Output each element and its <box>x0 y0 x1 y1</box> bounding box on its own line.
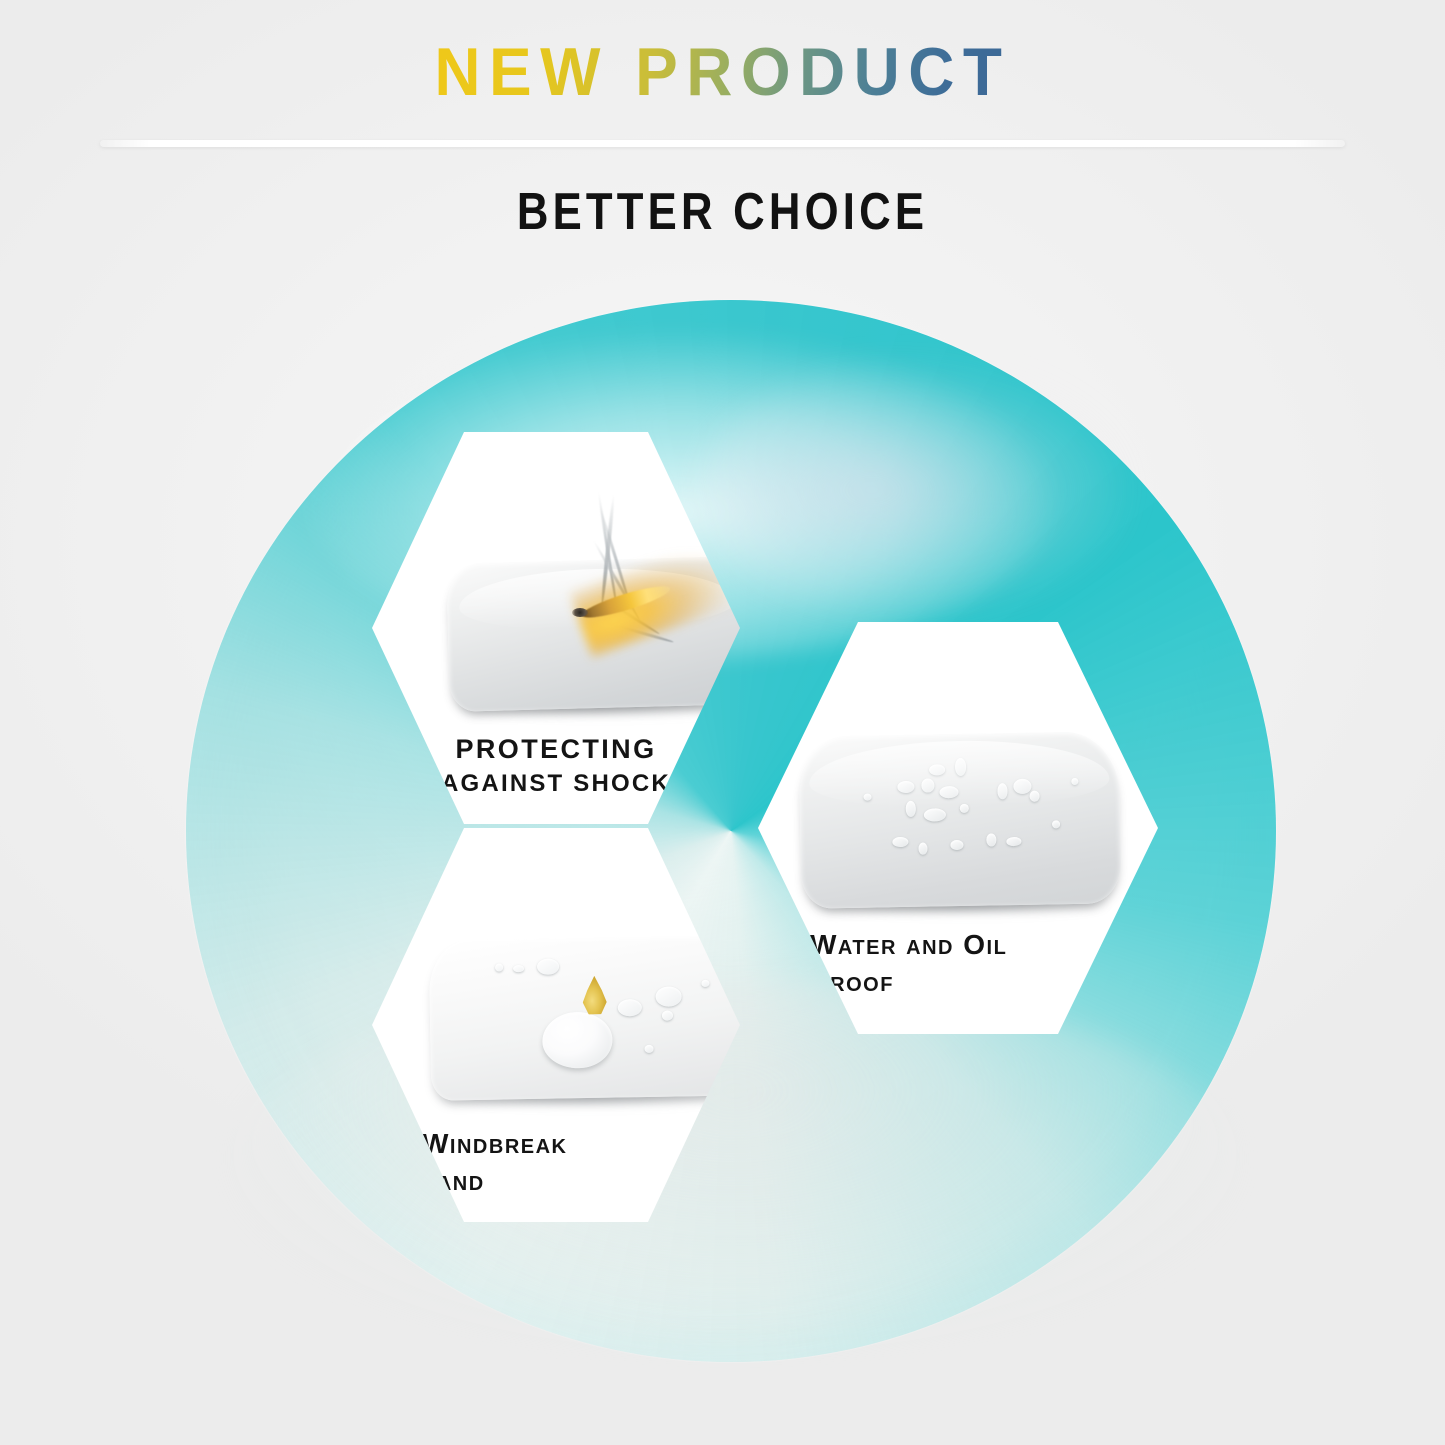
water-droplet-icon <box>1071 778 1078 785</box>
water-droplet-icon <box>655 986 681 1006</box>
water-droplet-icon <box>701 980 709 987</box>
page-title: NEW PRODUCT <box>434 38 1010 106</box>
water-droplet-icon <box>918 843 927 855</box>
water-droplet-icon <box>513 965 524 972</box>
water-droplet-icon <box>960 804 969 813</box>
lens-image-windbreak <box>429 935 746 1100</box>
water-droplet-icon <box>929 764 945 775</box>
water-droplet-icon <box>924 808 946 821</box>
feature-label-line1: Water and Oil <box>810 927 1110 964</box>
water-droplet-icon <box>1052 820 1060 828</box>
water-droplet-icon <box>939 786 958 798</box>
oil-droplet-icon <box>581 976 608 1016</box>
water-droplet-icon <box>1030 791 1040 802</box>
water-droplet-icon <box>955 758 966 776</box>
large-water-bead-icon <box>542 1012 613 1069</box>
water-droplet-icon <box>495 963 503 971</box>
feature-label-line1: Windbreak <box>422 1126 722 1163</box>
feature-label-water: Water and Oil Proof <box>810 927 1110 1001</box>
water-droplet-icon <box>864 794 872 801</box>
water-droplet-icon <box>950 840 963 850</box>
water-droplet-icon <box>986 833 996 846</box>
water-droplet-icon <box>1006 837 1021 846</box>
water-droplet-icon <box>537 958 559 974</box>
lens-image-shock <box>446 556 750 712</box>
page-subtitle: BETTER CHOICE <box>116 182 1330 242</box>
product-poster: NEW PRODUCT BETTER CHOICE PROTECTIN <box>0 0 1445 1445</box>
water-droplet-icon <box>997 783 1007 799</box>
water-droplet-icon <box>921 778 934 792</box>
water-droplet-icon <box>897 781 914 793</box>
lens-image-water <box>799 731 1122 909</box>
water-droplet-icon <box>892 837 908 847</box>
water-droplet-icon <box>618 999 642 1016</box>
water-droplet-icon <box>644 1045 653 1053</box>
water-droplet-icon <box>662 1011 673 1021</box>
header-divider <box>100 140 1345 147</box>
title-container: NEW PRODUCT <box>0 38 1445 106</box>
water-droplet-icon <box>1013 779 1031 794</box>
water-droplet-icon <box>906 801 916 817</box>
feature-label-line2: Proof <box>810 964 1110 1001</box>
